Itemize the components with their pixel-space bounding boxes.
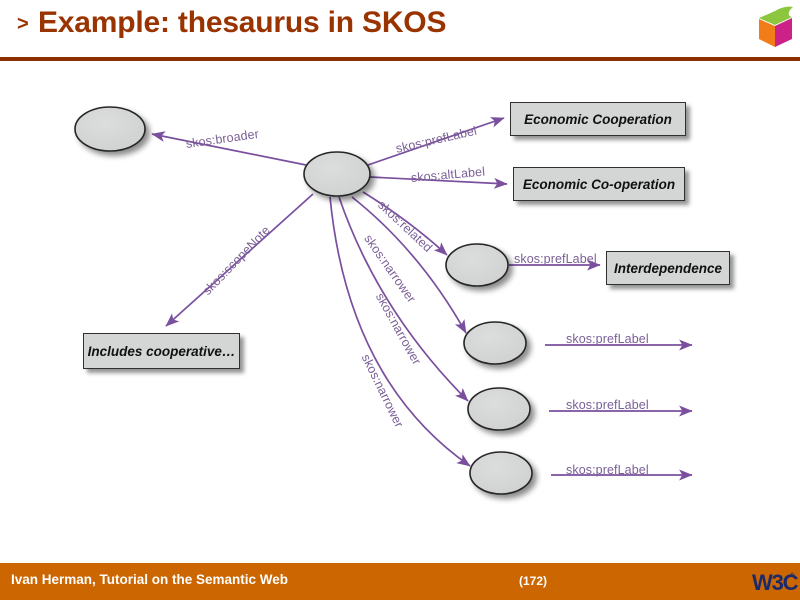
slide: > Example: thesaurus in SKOS bbox=[0, 0, 800, 600]
related-concept-node bbox=[446, 244, 508, 286]
w3c-wordmark-logo: W3C ® bbox=[752, 568, 798, 596]
economic-cooperation-box: Economic Cooperation bbox=[510, 102, 686, 136]
footer-author-text: Ivan Herman, Tutorial on the Semantic We… bbox=[11, 572, 288, 587]
slide-header: > Example: thesaurus in SKOS bbox=[0, 0, 800, 56]
skos-thesaurus-diagram: Economic Cooperation Economic Co-operati… bbox=[0, 61, 800, 555]
edge-label-preflabel-2: skos:prefLabel bbox=[514, 252, 597, 266]
edge-label-preflabel-5: skos:prefLabel bbox=[566, 463, 649, 477]
includes-cooperative-box: Includes cooperative… bbox=[83, 333, 240, 369]
svg-text:®: ® bbox=[790, 572, 795, 579]
page-title: Example: thesaurus in SKOS bbox=[38, 6, 446, 40]
title-bullet-marker: > bbox=[17, 14, 29, 34]
interdependence-box: Interdependence bbox=[606, 251, 730, 285]
narrower-concept-node-3 bbox=[470, 452, 532, 494]
w3c-cube-logo bbox=[756, 5, 796, 49]
narrower-concept-node-1 bbox=[464, 322, 526, 364]
slide-footer: Ivan Herman, Tutorial on the Semantic We… bbox=[0, 563, 800, 600]
edge-label-preflabel-4: skos:prefLabel bbox=[566, 398, 649, 412]
economic-co-operation-box: Economic Co-operation bbox=[513, 167, 685, 201]
edge-label-preflabel-3: skos:prefLabel bbox=[566, 332, 649, 346]
broader-concept-node bbox=[75, 107, 145, 151]
narrower-concept-node-2 bbox=[468, 388, 530, 430]
footer-page-number: (172) bbox=[519, 574, 547, 588]
central-concept-node bbox=[304, 152, 370, 196]
